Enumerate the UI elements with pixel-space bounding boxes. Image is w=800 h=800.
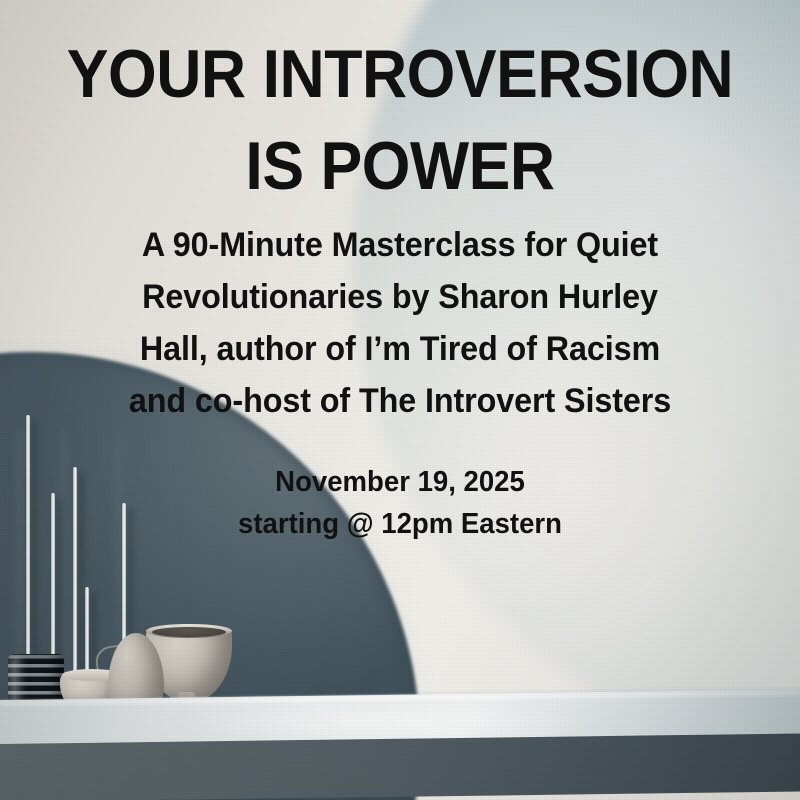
event-time: starting @ 12pm Eastern xyxy=(20,510,780,539)
subheading-line-3: Hall, author of I’m Tired of Racism xyxy=(20,332,780,366)
headline-line-1: YOUR INTROVERSION xyxy=(32,40,768,108)
subheading-line-2: Revolutionaries by Sharon Hurley xyxy=(20,280,780,314)
bowl-interior xyxy=(152,627,226,637)
shelf-sheen xyxy=(180,706,600,740)
subheading-line-4: and co-host of The Introvert Sisters xyxy=(20,384,780,418)
subheading-line-1: A 90-Minute Masterclass for Quiet xyxy=(20,228,780,262)
shelf-front-face xyxy=(0,734,800,800)
event-date: November 19, 2025 xyxy=(20,468,780,497)
poster-canvas: YOUR INTROVERSION IS POWER A 90-Minute M… xyxy=(0,0,800,800)
headline-line-2: IS POWER xyxy=(32,132,768,200)
